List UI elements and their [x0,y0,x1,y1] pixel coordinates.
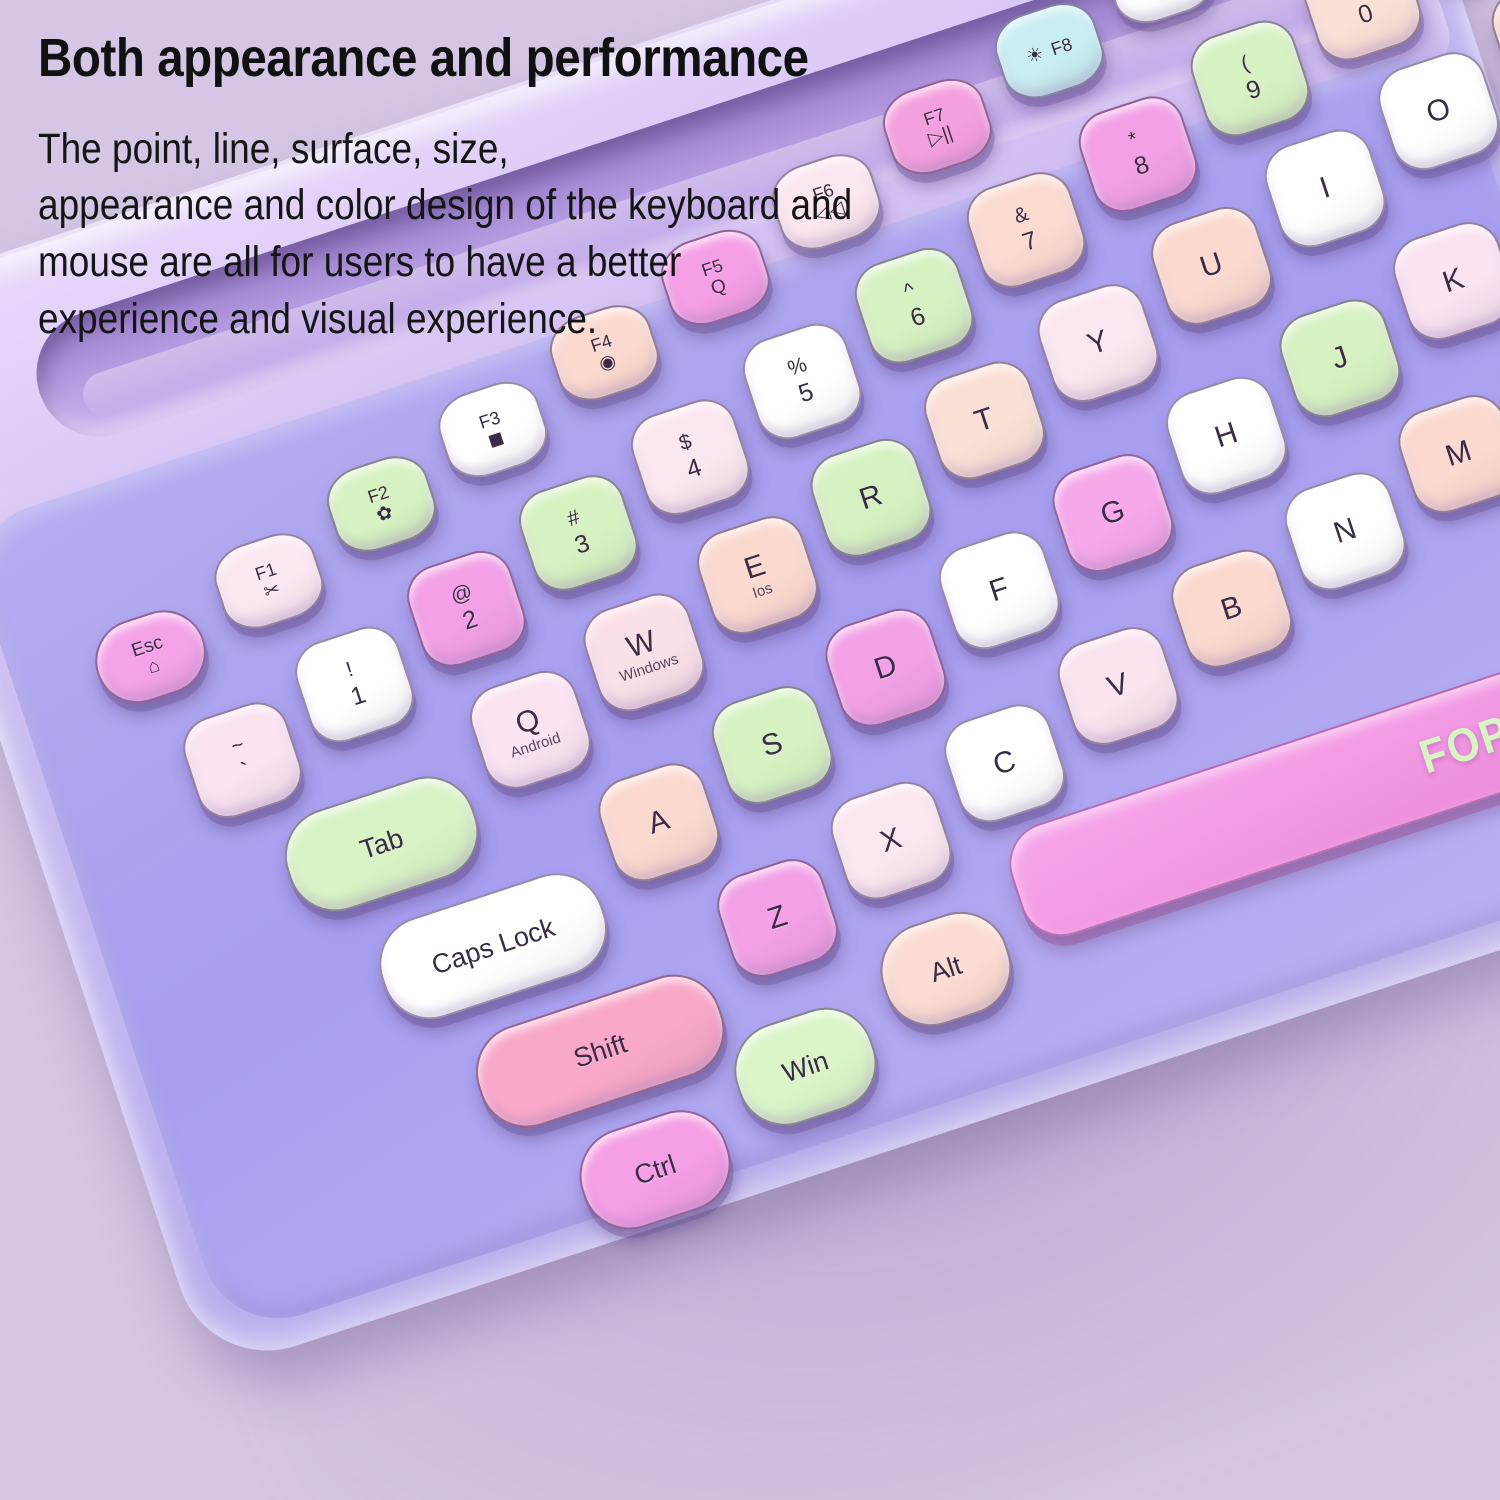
key-label: N [1330,514,1360,549]
key-label: S [758,728,786,763]
key-legend-top: % [785,354,810,381]
key-label: F [986,573,1013,607]
key-label: Caps Lock [428,914,558,979]
key-label: Alt [927,951,965,986]
body-line: experience and visual experience. [38,291,1053,348]
key-label: Win [779,1047,832,1087]
key-legend-top: # [565,506,583,531]
key-label: Z [764,901,791,935]
key-label: E [741,550,769,585]
key-legend-top: ~ [228,733,247,758]
key-legend-top: ! [343,659,355,682]
key-label: Tab [357,824,407,863]
marketing-copy: Both appearance and performance The poin… [38,30,1218,348]
key-label: D [871,650,901,685]
key-legend-bottom: 3 [571,530,593,560]
key-label: J [1328,342,1352,375]
key-label: M [1442,436,1475,472]
key-label: H [1211,418,1241,453]
key-icon: ✿ [374,502,395,525]
body-line: The point, line, surface, size, [38,121,1053,178]
key-legend-bottom: 1 [347,681,369,711]
key-label: R [856,480,886,515]
body-paragraph: The point, line, surface, size,appearanc… [38,121,1053,348]
key-icon: ⌂ [145,656,162,678]
key-legend-top: ( [1238,52,1252,75]
key-legend-bottom: ` [238,758,255,787]
key-legend-bottom: 5 [795,378,817,408]
key-label: T [971,403,998,437]
page-title: Both appearance and performance [38,30,1076,87]
key-label: G [1097,495,1129,531]
key-label: Shift [570,1030,630,1073]
key-legend-bottom: 0 [1355,0,1377,30]
key-icon: ✂ [261,579,282,602]
key-label: A [645,805,673,840]
key-legend-bottom: 2 [459,605,481,635]
key-label: V [1104,669,1132,704]
key-legend-bottom: 4 [683,454,705,484]
key-label: K [1439,264,1467,299]
key-label: X [877,823,905,858]
key-label: O [1423,93,1455,129]
body-line: appearance and color design of the keybo… [38,177,1053,234]
key-legend-bottom: 9 [1243,75,1265,105]
key-label: Ctrl [631,1150,679,1189]
key-legend-top: $ [677,430,695,455]
key-label: I [1316,173,1333,204]
key-icon: ◼ [485,428,506,451]
key-label: C [990,746,1020,781]
key-icon: ◉ [597,351,619,374]
key-label: B [1217,591,1245,626]
body-line: mouse are all for users to have a better [38,234,1053,291]
